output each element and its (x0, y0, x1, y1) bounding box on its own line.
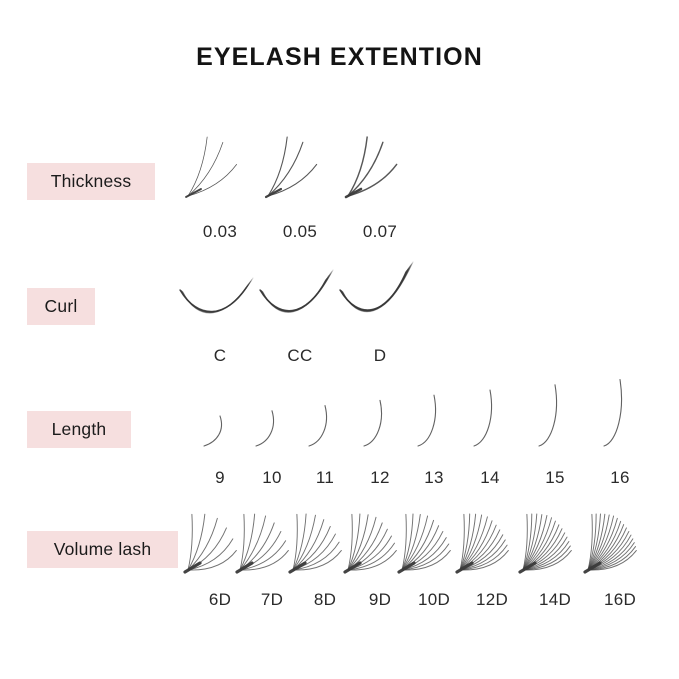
tick-label-volume: 8D (314, 590, 336, 610)
tick-label-volume: 14D (539, 590, 571, 610)
tick-label-length: 15 (545, 468, 565, 488)
row-label-length-text: Length (52, 419, 107, 440)
row-label-thickness-text: Thickness (51, 171, 132, 192)
tick-label-volume: 7D (261, 590, 283, 610)
row-label-curl-text: Curl (45, 296, 78, 317)
tick-label-curl: D (374, 346, 387, 366)
tick-label-volume: 9D (369, 590, 391, 610)
row-label-volume-text: Volume lash (54, 539, 152, 560)
tick-label-thickness: 0.03 (203, 222, 237, 242)
tick-label-volume: 16D (604, 590, 636, 610)
tick-label-length: 13 (424, 468, 444, 488)
eyelash-chart-graphics (0, 0, 679, 679)
tick-label-curl: CC (287, 346, 312, 366)
tick-label-curl: C (214, 346, 227, 366)
tick-label-length: 12 (370, 468, 390, 488)
row-label-volume: Volume lash (27, 531, 178, 568)
row-label-curl: Curl (27, 288, 95, 325)
row-label-thickness: Thickness (27, 163, 155, 200)
tick-label-volume: 12D (476, 590, 508, 610)
tick-label-length: 16 (610, 468, 630, 488)
tick-label-thickness: 0.07 (363, 222, 397, 242)
tick-label-length: 10 (262, 468, 282, 488)
tick-label-thickness: 0.05 (283, 222, 317, 242)
tick-label-volume: 6D (209, 590, 231, 610)
row-label-length: Length (27, 411, 131, 448)
tick-label-volume: 10D (418, 590, 450, 610)
tick-label-length: 11 (316, 468, 334, 488)
tick-label-length: 14 (480, 468, 500, 488)
tick-label-length: 9 (215, 468, 225, 488)
